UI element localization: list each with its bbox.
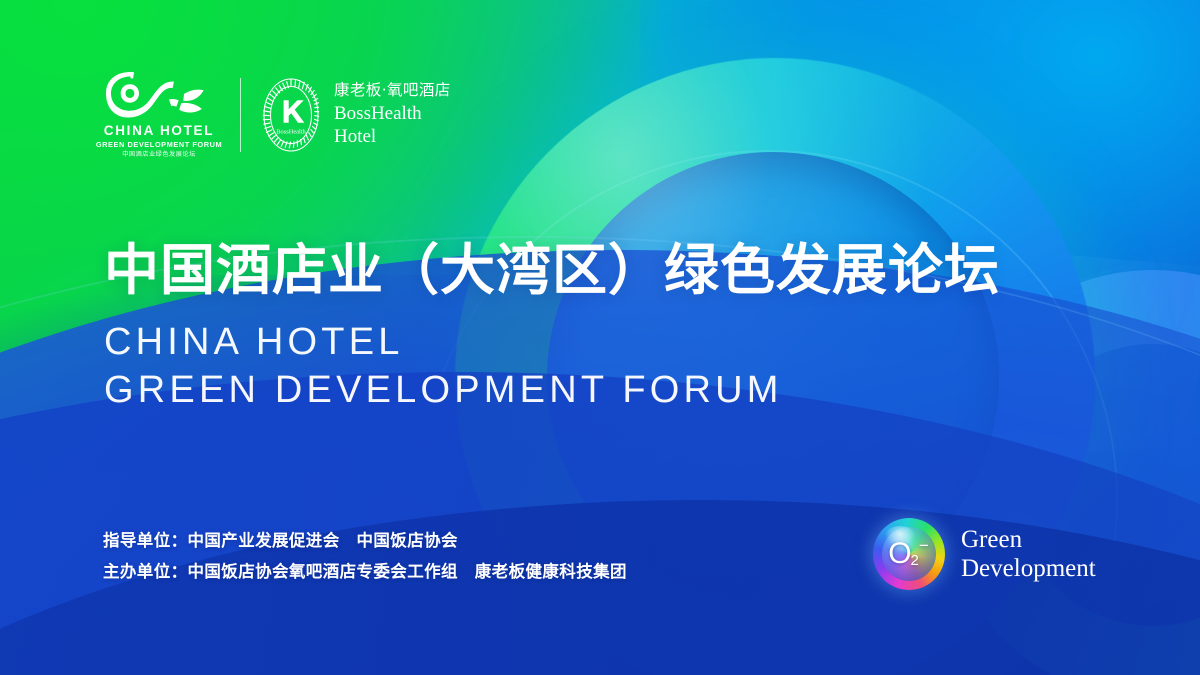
page-title-en-line1: CHINA HOTEL (104, 318, 1000, 367)
green-development-label: Green Development (961, 525, 1096, 584)
bosshealth-name-cn: 康老板·氧吧酒店 (334, 82, 451, 100)
k-oval-sunburst-emblem-icon: BossHealth (261, 76, 321, 154)
orb-formula-label: O2− (873, 518, 945, 590)
bosshealth-emblem-caption: BossHealth (276, 129, 306, 136)
page-title-en-line2: GREEN DEVELOPMENT FORUM (104, 366, 1000, 415)
organizer-line-guidance: 指导单位：中国产业发展促进会 中国饭店协会 (103, 533, 627, 550)
poster-canvas: CHINA HOTEL GREEN DEVELOPMENT FORUM 中国酒店… (0, 0, 1200, 675)
china-hotel-tagline-cn: 中国酒店业绿色发展论坛 (122, 152, 196, 158)
green-development-label-line2: Development (961, 554, 1096, 584)
headline-block: 中国酒店业（大湾区）绿色发展论坛 CHINA HOTEL GREEN DEVEL… (104, 240, 1000, 415)
organizer-credits: 指导单位：中国产业发展促进会 中国饭店协会 主办单位：中国饭店协会氧吧酒店专委会… (103, 533, 627, 594)
china-hotel-tagline-en: GREEN DEVELOPMENT FORUM (96, 141, 222, 148)
bosshealth-logo[interactable]: BossHealth 康老板·氧吧酒店 BossHealth Hotel (261, 76, 451, 154)
organizer-line-host: 主办单位：中国饭店协会氧吧酒店专委会工作组 康老板健康科技集团 (103, 564, 627, 581)
bosshealth-name-en-line1: BossHealth (334, 103, 451, 125)
page-title-en: CHINA HOTEL GREEN DEVELOPMENT FORUM (104, 318, 1000, 415)
china-hotel-logo[interactable]: CHINA HOTEL GREEN DEVELOPMENT FORUM 中国酒店… (100, 72, 218, 159)
logo-lockup: CHINA HOTEL GREEN DEVELOPMENT FORUM 中国酒店… (100, 72, 451, 159)
orb-formula-sub: 2 (911, 553, 919, 568)
bosshealth-name-en-line2: Hotel (334, 126, 451, 148)
rainbow-o2-sphere-icon: O2− (873, 518, 945, 590)
orb-formula-sup: − (919, 537, 929, 554)
vertical-divider-icon (240, 78, 241, 152)
green-development-badge: O2− Green Development (873, 518, 1096, 590)
green-development-label-line1: Green (961, 525, 1096, 555)
page-title-cn: 中国酒店业（大湾区）绿色发展论坛 (104, 240, 1000, 302)
ribbon-loop-leaf-icon (106, 72, 212, 118)
orb-formula-main: O (888, 539, 911, 569)
china-hotel-name: CHINA HOTEL (104, 124, 214, 138)
